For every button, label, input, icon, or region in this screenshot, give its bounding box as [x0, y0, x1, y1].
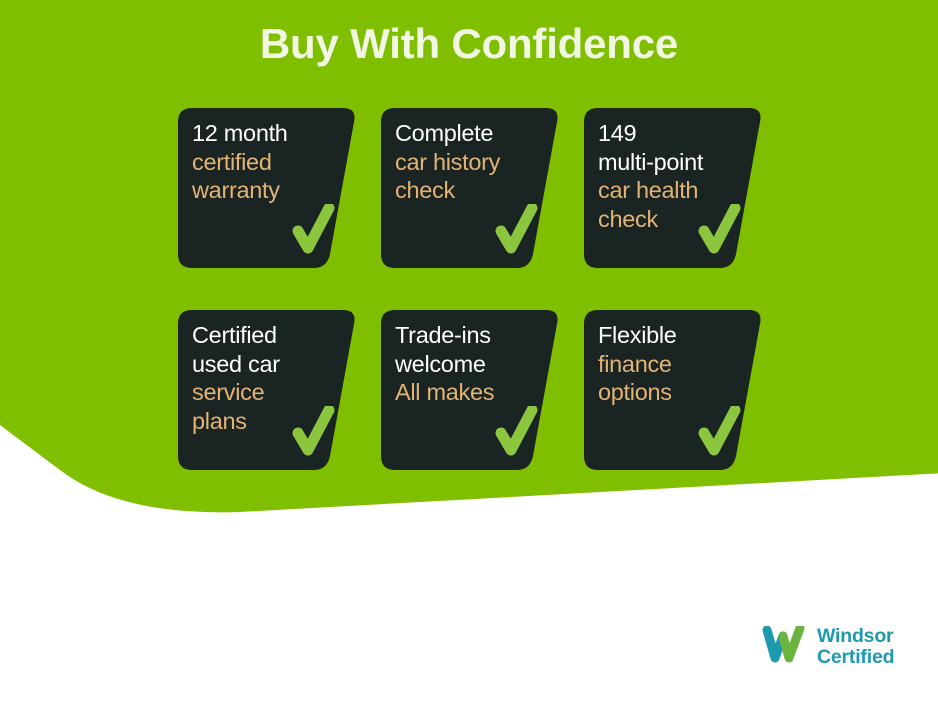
- feature-card-finance-options[interactable]: Flexible finance options: [584, 310, 763, 470]
- card-line: Complete: [395, 119, 545, 148]
- brand-logo[interactable]: Windsor Certified: [762, 626, 894, 668]
- card-line: welcome: [395, 350, 545, 379]
- card-line: car history: [395, 148, 545, 177]
- feature-card-row-1: 12 month certified warranty Complete car…: [178, 108, 762, 268]
- card-text-block: Complete car history check: [395, 119, 545, 205]
- card-line: 149: [598, 119, 748, 148]
- card-line: options: [598, 378, 748, 407]
- checkmark-icon: [494, 406, 538, 462]
- card-line: service: [192, 378, 342, 407]
- card-line: 12 month: [192, 119, 342, 148]
- card-line: used car: [192, 350, 342, 379]
- feature-card-multi-point-check[interactable]: 149 multi-point car health check: [584, 108, 763, 268]
- brand-line-2: Certified: [817, 647, 894, 668]
- checkmark-icon: [291, 406, 335, 462]
- feature-card-trade-ins[interactable]: Trade-ins welcome All makes: [381, 310, 560, 470]
- feature-card-row-2: Certified used car service plans Trade-i…: [178, 310, 762, 470]
- feature-card-warranty[interactable]: 12 month certified warranty: [178, 108, 357, 268]
- checkmark-icon: [697, 406, 741, 462]
- card-line: Flexible: [598, 321, 748, 350]
- checkmark-icon: [697, 204, 741, 260]
- brand-wordmark: Windsor Certified: [817, 626, 894, 668]
- card-line: Certified: [192, 321, 342, 350]
- feature-card-service-plans[interactable]: Certified used car service plans: [178, 310, 357, 470]
- card-text-block: Flexible finance options: [598, 321, 748, 407]
- card-line: All makes: [395, 378, 545, 407]
- checkmark-icon: [494, 204, 538, 260]
- card-line: Trade-ins: [395, 321, 545, 350]
- card-line: certified: [192, 148, 342, 177]
- card-line: finance: [598, 350, 748, 379]
- poster: Buy With Confidence 12 month certified w…: [0, 0, 938, 704]
- card-text-block: Trade-ins welcome All makes: [395, 321, 545, 407]
- card-text-block: 12 month certified warranty: [192, 119, 342, 205]
- card-line: multi-point: [598, 148, 748, 177]
- feature-card-grid: 12 month certified warranty Complete car…: [178, 108, 762, 470]
- card-line: car health: [598, 176, 748, 205]
- brand-line-1: Windsor: [817, 626, 894, 647]
- card-line: check: [395, 176, 545, 205]
- card-line: warranty: [192, 176, 342, 205]
- checkmark-icon: [291, 204, 335, 260]
- feature-card-car-history-check[interactable]: Complete car history check: [381, 108, 560, 268]
- windsor-w-icon: [762, 626, 808, 668]
- page-title: Buy With Confidence: [0, 20, 938, 68]
